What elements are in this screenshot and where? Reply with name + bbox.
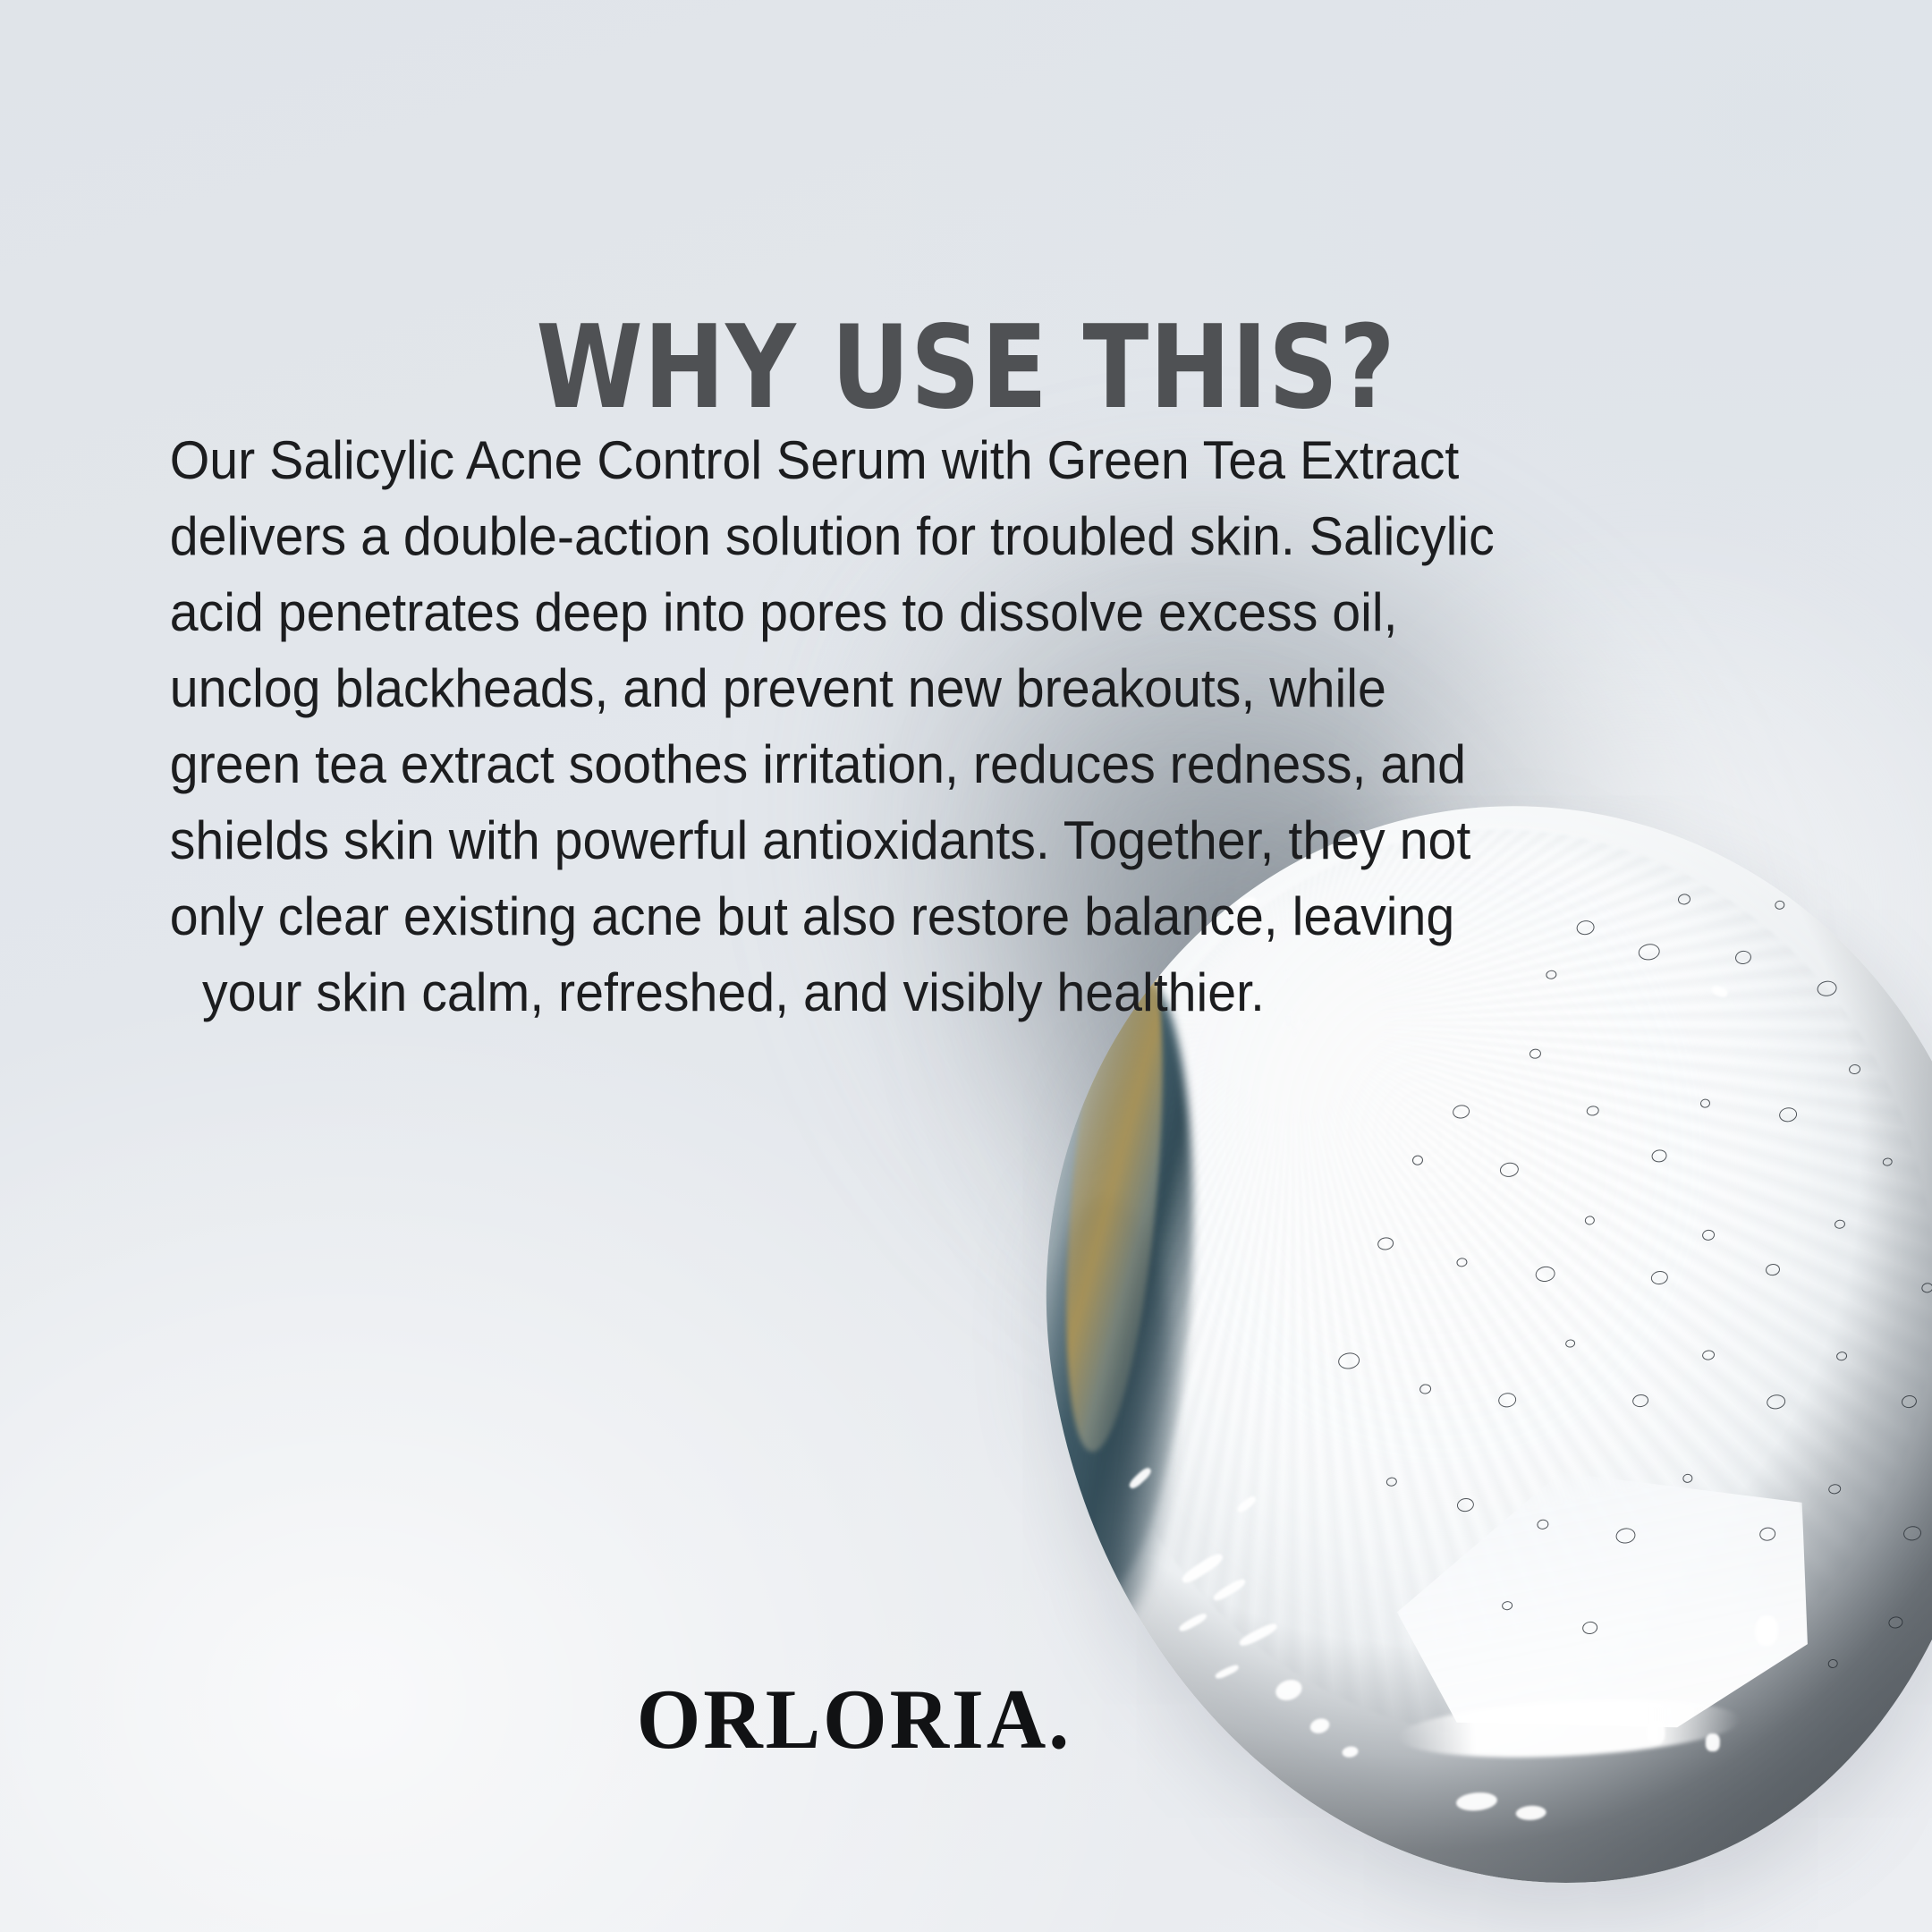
body-paragraph: Our Salicylic Acne Control Serum with Gr… [170,422,1298,1030]
body-line: your skin calm, refreshed, and visibly h… [170,954,1298,1030]
body-line: shields skin with powerful antioxidants.… [170,802,1298,878]
body-line: Our Salicylic Acne Control Serum with Gr… [170,422,1298,498]
brand-logo: ORLORIA. [0,1678,1932,1760]
poster-canvas: WHY USE THIS? Our Salicylic Acne Control… [0,0,1932,1932]
text-layer: WHY USE THIS? Our Salicylic Acne Control… [0,0,1932,1932]
body-line: only clear existing acne but also restor… [170,878,1298,954]
body-line: acid penetrates deep into pores to disso… [170,574,1298,650]
body-line: delivers a double-action solution for tr… [170,498,1298,574]
body-line: green tea extract soothes irritation, re… [170,726,1298,802]
body-line: unclog blackheads, and prevent new break… [170,650,1298,726]
brand-logo-text: ORLORIA. [637,1676,1072,1762]
page-title: WHY USE THIS? [58,311,1874,426]
